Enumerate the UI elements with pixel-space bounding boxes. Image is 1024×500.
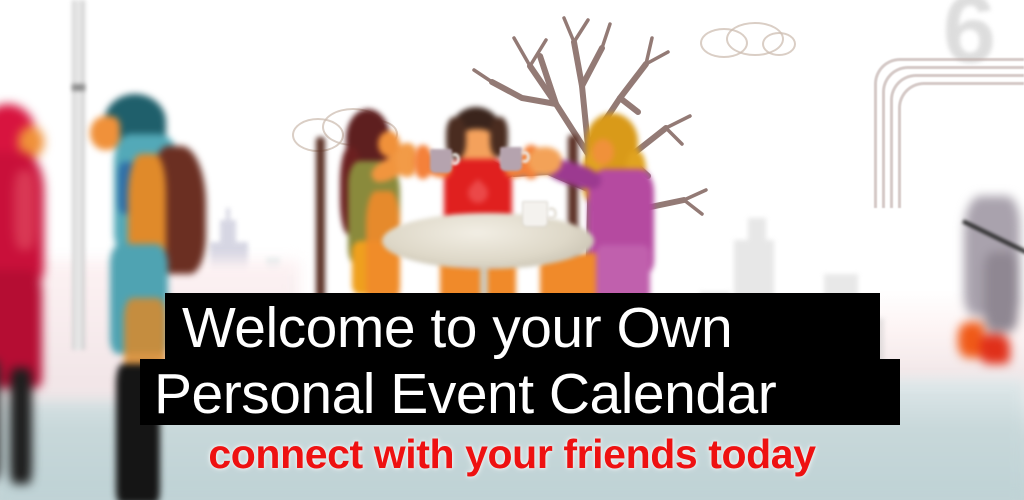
- headline-line-2: Personal Event Calendar: [154, 366, 776, 423]
- subtitle-text: connect with your friends today: [0, 431, 1024, 478]
- bracket-line-icon: [898, 82, 1024, 208]
- coffee-mug-handle-icon: [546, 207, 557, 220]
- pole-band: [72, 84, 85, 91]
- coffee-mug-icon: [522, 201, 548, 227]
- coffee-mug-icon: [500, 147, 522, 171]
- coffee-mug-handle-icon: [450, 153, 460, 165]
- pedestrian-right: [936, 196, 1024, 386]
- welcome-banner: 6: [0, 0, 1024, 500]
- headline-line-1: Welcome to your Own: [182, 300, 732, 357]
- coffee-mug-icon: [430, 149, 452, 173]
- cafe-table: [382, 213, 594, 269]
- chair-left: [316, 137, 325, 307]
- cafe-scene: [300, 95, 700, 310]
- cloud-icon: [762, 32, 796, 56]
- coffee-mug-handle-icon: [520, 151, 530, 163]
